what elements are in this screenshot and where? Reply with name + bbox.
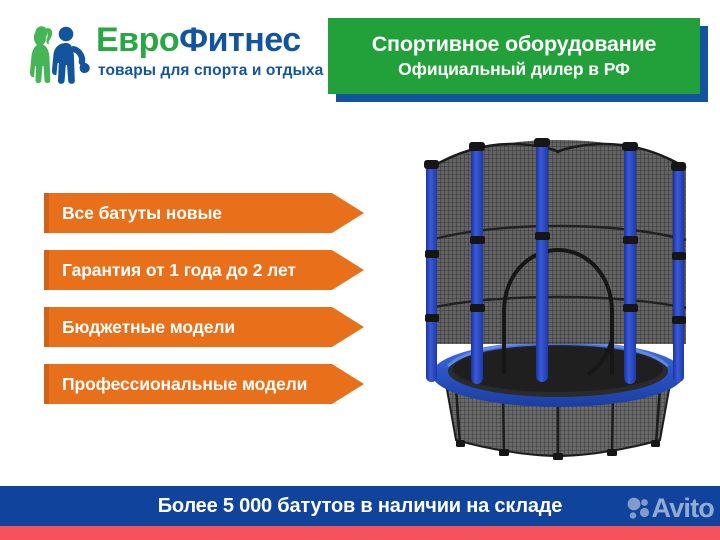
feature-item: Гарантия от 1 года до 2 лет — [44, 250, 364, 290]
feature-left-edge — [44, 307, 49, 347]
feature-label: Гарантия от 1 года до 2 лет — [62, 250, 296, 290]
trampoline-safety-net — [426, 136, 692, 374]
advertisement-banner: ЕвроФитнес товары для спорта и отдыха Сп… — [0, 0, 720, 540]
feature-item: Бюджетные модели — [44, 307, 364, 347]
trampoline-product-image: unix — [408, 122, 708, 462]
feature-left-edge — [44, 250, 49, 290]
brand-logo: ЕвроФитнес товары для спорта и отдыха — [22, 20, 322, 90]
feature-item: Профессиональные модели — [44, 364, 364, 404]
footer-text: Более 5 000 батутов в наличии на складе — [0, 486, 720, 526]
header-banner-line2: Официальный дилер в РФ — [398, 57, 630, 81]
feature-left-edge — [44, 193, 49, 233]
logo-wordmark: ЕвроФитнес — [96, 20, 301, 60]
trampoline-safety-pad — [432, 341, 684, 407]
header-banner: Спортивное оборудование Официальный диле… — [328, 18, 700, 94]
feature-label: Профессиональные модели — [62, 364, 307, 404]
feature-list: Все батуты новые Гарантия от 1 года до 2… — [44, 193, 364, 421]
logo-tagline: товары для спорта и отдыха — [98, 62, 323, 80]
logo-word-part1: Евро — [96, 21, 179, 59]
avito-dots-icon — [625, 496, 651, 522]
avito-wordmark: Avito — [652, 495, 715, 522]
feature-label: Все батуты новые — [62, 193, 222, 233]
header-banner-line1: Спортивное оборудование — [372, 31, 657, 57]
logo-word-part2: Фитнес — [179, 21, 300, 59]
athlete-silhouettes-icon — [22, 22, 94, 84]
feature-left-edge — [44, 364, 49, 404]
footer-banner: Более 5 000 батутов в наличии на складе — [0, 486, 720, 526]
footer-accent-strip — [0, 526, 720, 540]
feature-item: Все батуты новые — [44, 193, 364, 233]
feature-label: Бюджетные модели — [62, 307, 235, 347]
avito-watermark: Avito — [625, 495, 715, 522]
